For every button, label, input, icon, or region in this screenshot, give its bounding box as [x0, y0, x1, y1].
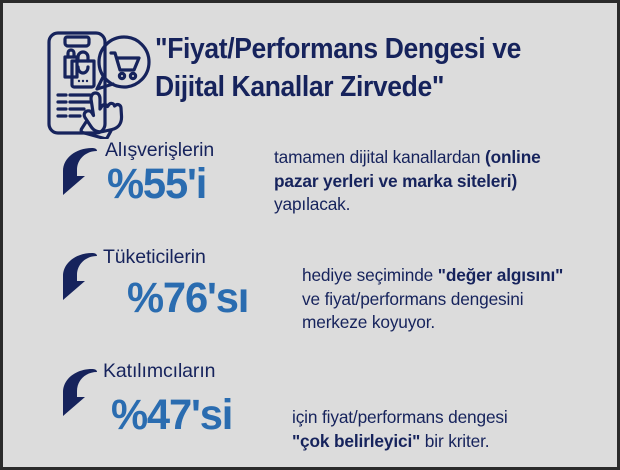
mobile-shopping-icon: [41, 27, 153, 139]
stat-label: Tüketicilerin: [103, 246, 252, 269]
stat-percentage: %76'sı: [127, 276, 248, 320]
quote-mark-icon: [59, 147, 105, 199]
stat-percentage: %47'si: [111, 393, 232, 437]
stat-description: hediye seçiminde "değer algısını"ve fiya…: [302, 264, 618, 335]
stat-figure: Tüketicilerin %76'sı: [103, 246, 252, 320]
stat-description-line: merkeze koyuyor.: [302, 311, 618, 335]
stat-description-line: yapılacak.: [274, 193, 604, 217]
quote-mark-icon: [59, 252, 105, 304]
stat-description-line: "çok belirleyici" bir kriter.: [292, 430, 618, 454]
page-title: "Fiyat/Performans Dengesi ve Dijital Kan…: [155, 30, 575, 106]
header-section: "Fiyat/Performans Dengesi ve Dijital Kan…: [3, 3, 620, 135]
page-title-line-2: Dijital Kanallar Zirvede": [155, 68, 575, 106]
page-title-line-1: "Fiyat/Performans Dengesi ve: [155, 30, 575, 68]
quote-mark-icon: [59, 368, 105, 420]
stat-description: için fiyat/performans dengesi"çok belirl…: [292, 406, 618, 453]
stat-label: Katılımcıların: [103, 360, 236, 383]
stat-row: Katılımcıların %47'si için fiyat/perform…: [3, 360, 620, 460]
stat-label: Alışverişlerin: [105, 139, 214, 162]
stat-description-line: için fiyat/performans dengesi: [292, 406, 618, 430]
stat-row: Tüketicilerin %76'sı hediye seçiminde "d…: [3, 246, 620, 346]
stat-row: Alışverişlerin %55'i tamamen dijital kan…: [3, 139, 620, 235]
stat-figure: Katılımcıların %47'si: [103, 360, 236, 437]
stat-description: tamamen dijital kanallardan (onlinepazar…: [274, 146, 604, 217]
stat-description-line: pazar yerleri ve marka siteleri): [274, 170, 604, 194]
stat-figure: Alışverişlerin %55'i: [105, 139, 214, 206]
stat-description-line: hediye seçiminde "değer algısını": [302, 264, 618, 288]
infographic-card: "Fiyat/Performans Dengesi ve Dijital Kan…: [0, 0, 620, 470]
stat-description-line: tamamen dijital kanallardan (online: [274, 146, 604, 170]
stat-description-line: ve fiyat/performans dengesini: [302, 288, 618, 312]
stat-percentage: %55'i: [107, 162, 211, 206]
